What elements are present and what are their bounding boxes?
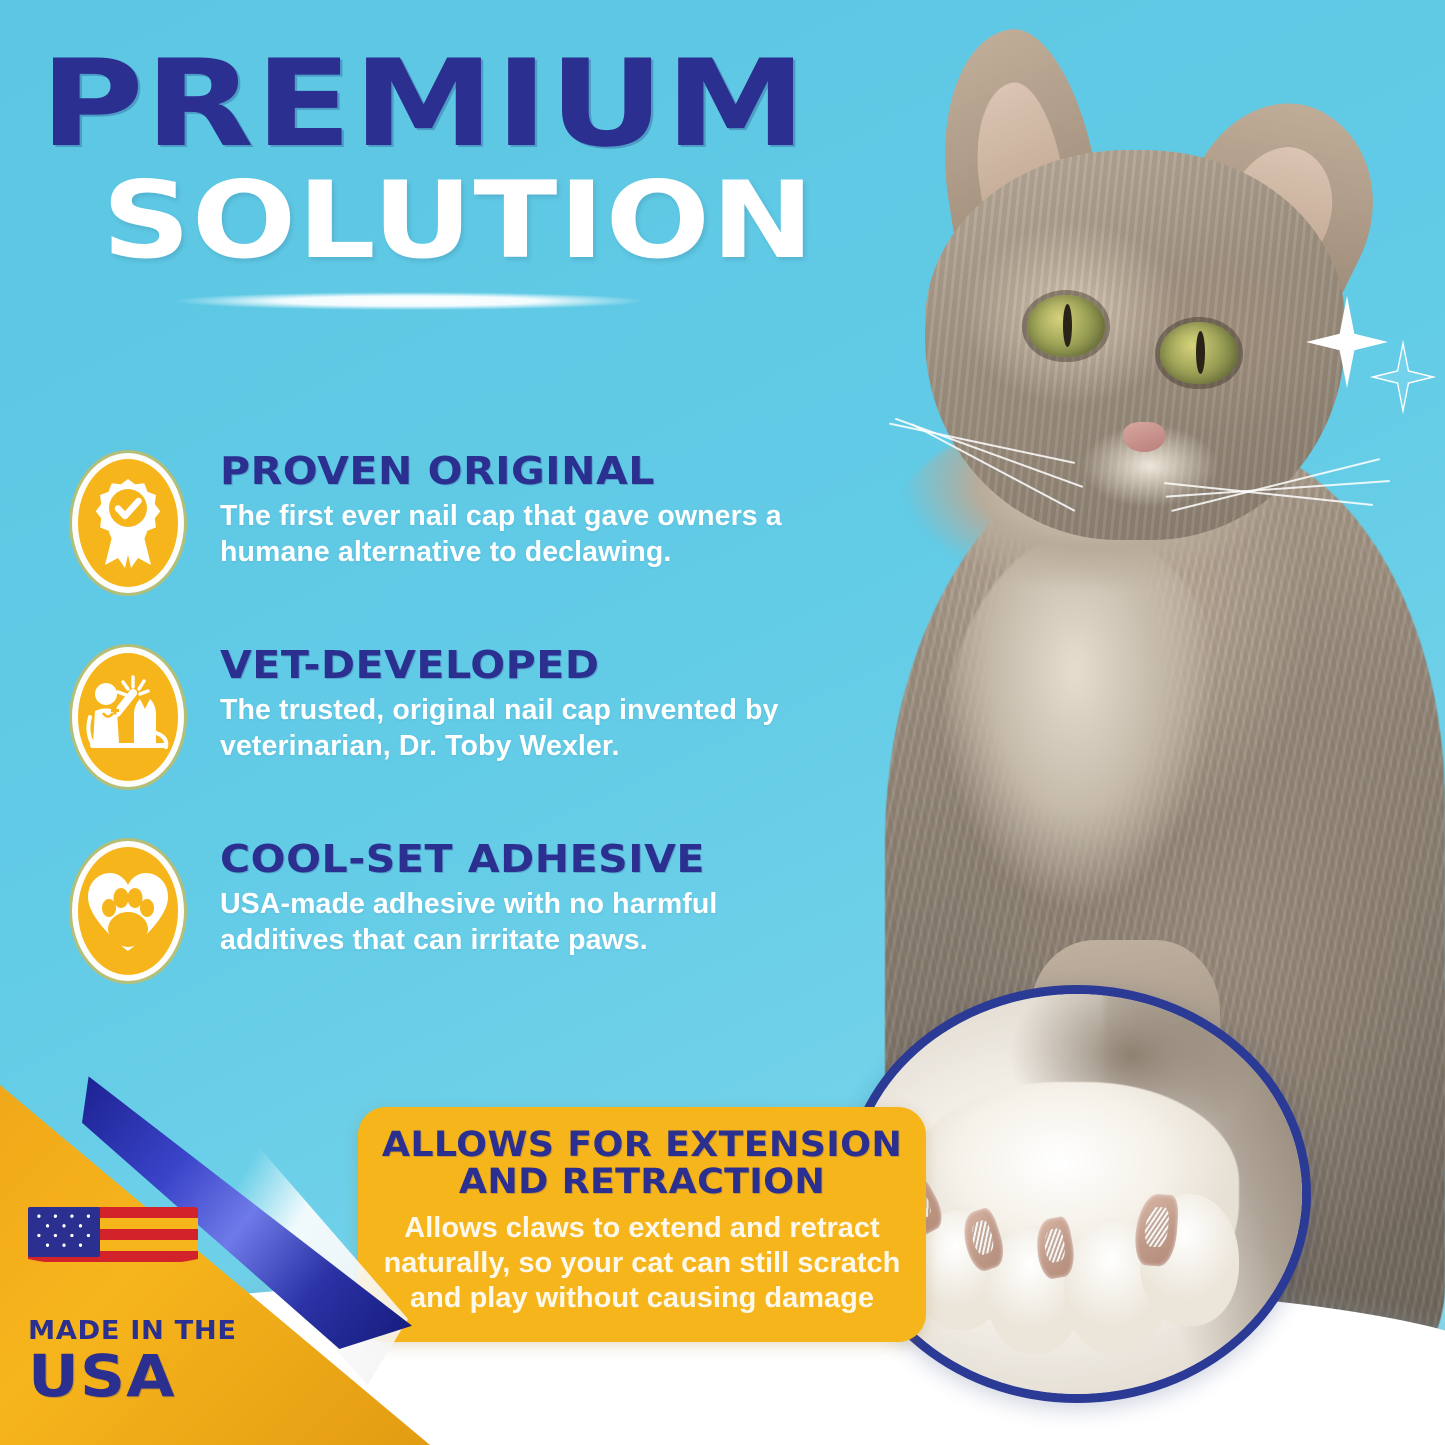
feature-description: The trusted, original nail cap invented … <box>220 693 848 765</box>
made-in-usa-line-2: USA <box>28 1346 276 1407</box>
page-title: PREMIUM SOLUTION <box>40 48 840 274</box>
sparkle-star-outline-icon <box>1370 340 1436 414</box>
award-ribbon-check-icon <box>58 445 198 601</box>
feature-title: COOL-SET ADHESIVE <box>220 837 898 881</box>
usa-flag-icon <box>28 1207 198 1302</box>
vet-high-five-cat-icon <box>58 639 198 795</box>
callout-title-line-1: ALLOWS FOR EXTENSION <box>372 1127 913 1164</box>
headline-line-1: PREMIUM <box>40 48 984 162</box>
product-infographic-poster: PREMIUM SOLUTION PROVEN ORIGINAL The fir… <box>0 0 1445 1445</box>
made-in-usa-badge: MADE IN THE USA <box>28 1207 258 1407</box>
list-item: COOL-SET ADHESIVE USA-made adhesive with… <box>58 833 848 989</box>
feature-title: PROVEN ORIGINAL <box>220 449 898 493</box>
callout-title: ALLOWS FOR EXTENSION AND RETRACTION <box>372 1127 913 1201</box>
headline-swoosh-divider <box>175 292 645 310</box>
headline-line-2: SOLUTION <box>102 168 958 274</box>
extension-retraction-callout: ALLOWS FOR EXTENSION AND RETRACTION Allo… <box>358 1107 926 1342</box>
heart-paw-print-icon <box>58 833 198 989</box>
feature-list: PROVEN ORIGINAL The first ever nail cap … <box>58 445 848 1027</box>
list-item: VET-DEVELOPED The trusted, original nail… <box>58 639 848 795</box>
callout-body: Allows claws to extend and retract natur… <box>382 1211 902 1315</box>
cat-eye-left <box>1027 295 1105 357</box>
callout-title-line-2: AND RETRACTION <box>372 1164 913 1201</box>
feature-description: USA-made adhesive with no harmful additi… <box>220 887 848 959</box>
cat-eye-right <box>1160 322 1238 384</box>
cat-nose <box>1123 422 1165 452</box>
feature-description: The first ever nail cap that gave owners… <box>220 499 848 571</box>
list-item: PROVEN ORIGINAL The first ever nail cap … <box>58 445 848 601</box>
feature-title: VET-DEVELOPED <box>220 643 898 687</box>
